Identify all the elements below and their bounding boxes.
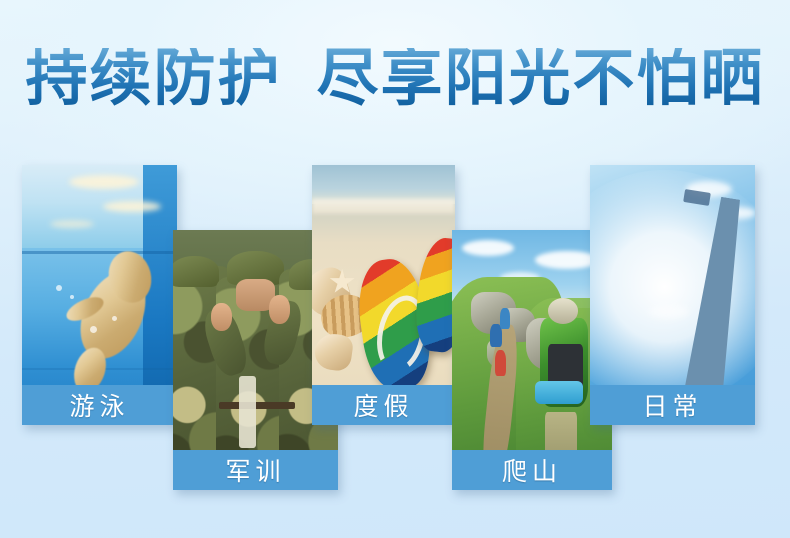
scenario-card-group: 游泳 (0, 0, 790, 538)
scenario-card-daily[interactable]: 日常 (590, 165, 755, 425)
scenario-label-daily: 日常 (590, 385, 755, 425)
scenario-label-vacation: 度假 (312, 385, 455, 425)
scenario-card-swimming[interactable]: 游泳 (22, 165, 177, 425)
scenario-label-swimming: 游泳 (22, 385, 177, 425)
scenario-label-military: 军训 (173, 450, 338, 490)
sunscreen-scenario-banner: 持续防护 尽享阳光不怕晒 (0, 0, 790, 538)
scenario-card-hiking[interactable]: 爬山 (452, 230, 612, 490)
scenario-label-hiking: 爬山 (452, 450, 612, 490)
scenario-card-vacation[interactable]: 度假 (312, 165, 455, 425)
